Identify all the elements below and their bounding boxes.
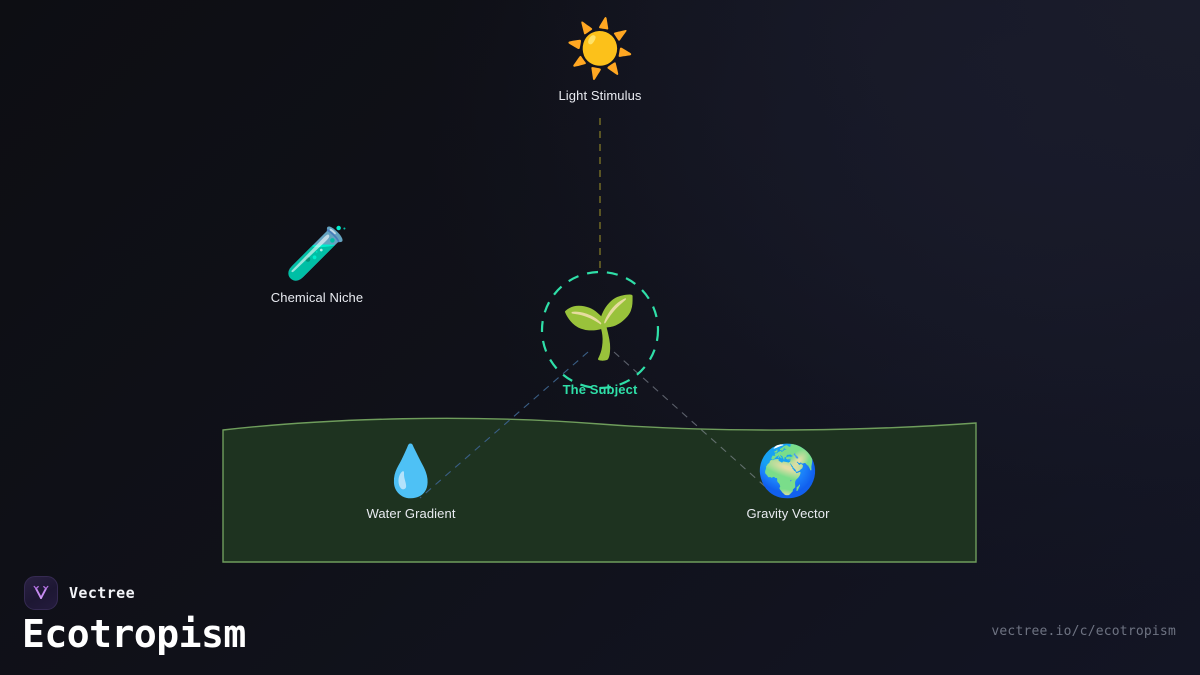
diagram-canvas: ☀️ Light Stimulus 🧪 Chemical Niche 🌱 The… (0, 0, 1200, 675)
node-water-gradient[interactable]: 💧 Water Gradient (301, 446, 521, 521)
node-gravity-vector-label: Gravity Vector (678, 506, 898, 521)
node-light-stimulus[interactable]: ☀️ Light Stimulus (490, 22, 710, 103)
footer-url: vectree.io/c/ecotropism (991, 624, 1176, 639)
node-chemical-niche[interactable]: 🧪 Chemical Niche (207, 228, 427, 305)
brand-name: Vectree (69, 584, 135, 602)
node-water-gradient-label: Water Gradient (301, 506, 521, 521)
test-tube-icon: 🧪 (207, 228, 427, 280)
vectree-logo-icon (24, 576, 58, 610)
node-the-subject-label: The Subject (490, 382, 710, 397)
globe-icon: 🌍 (678, 446, 898, 496)
brand-row[interactable]: Vectree (24, 576, 135, 610)
sun-icon: ☀️ (490, 22, 710, 78)
seedling-icon: 🌱 (490, 296, 710, 358)
droplet-icon: 💧 (301, 446, 521, 496)
page-title: Ecotropism (22, 612, 246, 656)
node-chemical-niche-label: Chemical Niche (207, 290, 427, 305)
node-gravity-vector[interactable]: 🌍 Gravity Vector (678, 446, 898, 521)
node-the-subject[interactable]: 🌱 The Subject (490, 296, 710, 397)
node-light-stimulus-label: Light Stimulus (490, 88, 710, 103)
vectree-logo-glyph (31, 583, 51, 603)
